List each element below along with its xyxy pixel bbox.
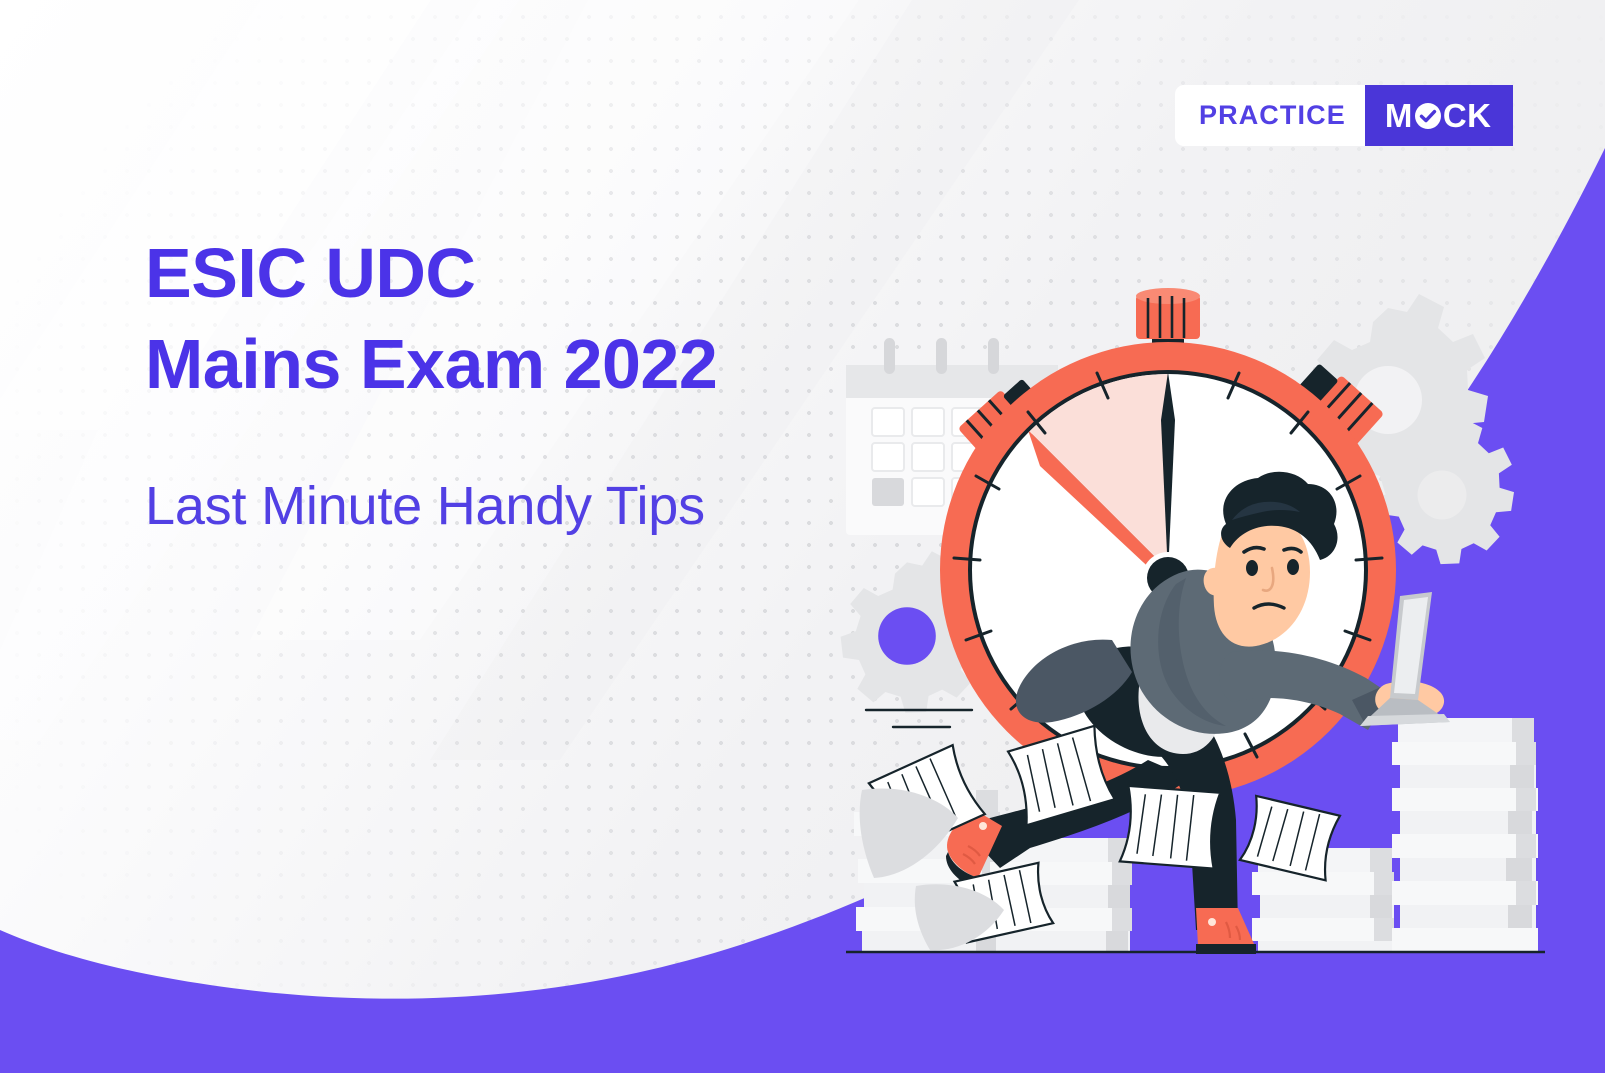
logo-practice-word: PRACTICE bbox=[1199, 100, 1346, 131]
logo-mock-badge: M CK bbox=[1365, 85, 1514, 146]
logo-mock-letter-m: M bbox=[1385, 97, 1413, 135]
page-title: ESIC UDC Mains Exam 2022 bbox=[145, 228, 905, 410]
practicemock-logo[interactable]: PRACTICE M CK bbox=[1175, 85, 1513, 146]
page-subtitle: Last Minute Handy Tips bbox=[145, 474, 705, 539]
logo-mock-letters-ck: CK bbox=[1443, 97, 1492, 135]
shoe-front bbox=[1196, 908, 1256, 954]
logo-practice-word-container: PRACTICE bbox=[1175, 85, 1365, 146]
paper-stack-right-tall bbox=[1392, 718, 1538, 952]
text-block: ESIC UDC Mains Exam 2022 bbox=[145, 228, 905, 410]
promotional-banner: ESIC UDC Mains Exam 2022 Last Minute Han… bbox=[0, 0, 1605, 1073]
check-circle-icon bbox=[1414, 102, 1442, 130]
